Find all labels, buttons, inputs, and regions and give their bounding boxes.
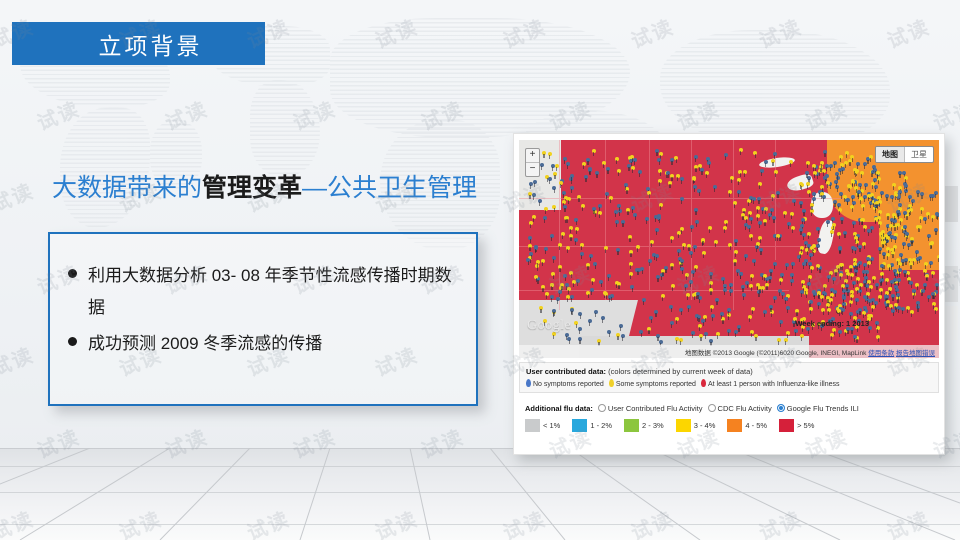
map-pin — [720, 312, 724, 316]
map-pin — [848, 185, 852, 189]
map-pin — [877, 196, 881, 200]
map-pin — [830, 288, 834, 292]
map-pin — [686, 293, 690, 297]
map-pin — [832, 277, 836, 281]
map-pin — [756, 206, 760, 210]
map-pin — [934, 191, 938, 195]
legend-label: No symptoms reported — [533, 381, 604, 388]
map-pin — [551, 164, 555, 168]
map-pin — [891, 309, 895, 313]
map-pin — [923, 283, 927, 287]
radio-icon[interactable] — [708, 404, 716, 412]
map-attribution: 地图数据 ©2013 Google (©2011)6020 Google, IN… — [685, 347, 935, 357]
map-pin — [837, 232, 841, 236]
map-pin — [801, 218, 805, 222]
map-pin — [878, 200, 882, 204]
map-pin — [695, 220, 699, 224]
map-pin — [729, 283, 733, 287]
map-pin — [709, 281, 713, 285]
map-pin — [812, 197, 816, 201]
map-pin — [770, 208, 774, 212]
map-pin — [670, 321, 674, 325]
map-pin — [880, 272, 884, 276]
map-pin — [675, 337, 679, 341]
radio-option-user-contributed[interactable]: User Contributed Flu Activity — [598, 404, 703, 413]
map-pin — [631, 166, 635, 170]
map-pin — [558, 243, 562, 247]
map-pin — [839, 192, 843, 196]
map-pin — [878, 247, 882, 251]
map-pin — [617, 282, 621, 286]
map-pin — [566, 246, 570, 250]
map-pin — [649, 316, 653, 320]
radio-label: User Contributed Flu Activity — [608, 404, 703, 413]
scale-item: 3 - 4% — [676, 419, 716, 432]
map-pin — [570, 295, 574, 299]
map-pin — [734, 330, 738, 334]
map-pin — [562, 200, 566, 204]
map-pin — [842, 296, 846, 300]
map-pin — [807, 282, 811, 286]
map-pin — [875, 321, 879, 325]
map-pin — [566, 162, 570, 166]
map-pin — [638, 170, 642, 174]
map-pin — [872, 276, 876, 280]
map-pin — [630, 285, 634, 289]
map-pin — [874, 185, 878, 189]
map-pin — [744, 223, 748, 227]
map-pin — [830, 293, 834, 297]
scale-item: > 5% — [779, 419, 814, 432]
map-pin — [536, 260, 540, 264]
map-pin — [881, 241, 885, 245]
map-pin — [899, 253, 903, 257]
map-pin — [919, 216, 923, 220]
map-pin — [810, 209, 814, 213]
map-pin — [790, 279, 794, 283]
map-pin — [791, 226, 795, 230]
map-pin — [577, 195, 581, 199]
map-pin — [876, 171, 880, 175]
map-pin — [837, 203, 841, 207]
map-pin — [602, 161, 606, 165]
map-pin — [885, 278, 889, 282]
attribution-link-terms[interactable]: 使用条款 — [868, 350, 894, 357]
map-pin — [655, 149, 659, 153]
map-pin — [748, 211, 752, 215]
map-pin — [750, 274, 754, 278]
map-pin — [694, 208, 698, 212]
slide-canvas: 立项背景 大数据带来的管理变革—公共卫生管理 利用大数据分析 03- 08 年季… — [0, 0, 960, 540]
map-pin — [636, 245, 640, 249]
map-pin — [903, 225, 907, 229]
map-toggle-map[interactable]: 地图 — [876, 147, 904, 162]
map-pin — [691, 331, 695, 335]
map-pin — [742, 293, 746, 297]
radio-option-cdc[interactable]: CDC Flu Activity — [708, 404, 772, 413]
map-pin — [748, 315, 752, 319]
map-pin — [880, 191, 884, 195]
map-pin — [845, 151, 849, 155]
map-pin — [749, 217, 753, 221]
map-pin — [892, 219, 896, 223]
map-pin — [628, 235, 632, 239]
map-pin — [756, 214, 760, 218]
map-pin — [645, 217, 649, 221]
map-pin — [707, 161, 711, 165]
map-pin — [540, 163, 544, 167]
map-pin — [799, 182, 803, 186]
map-pin — [693, 185, 697, 189]
map-pin — [578, 337, 582, 341]
map-pin — [908, 204, 912, 208]
map-pin — [845, 284, 849, 288]
map-pin — [560, 283, 564, 287]
map-pin — [689, 251, 693, 255]
map-type-toggle[interactable]: 地图 卫星 — [875, 146, 934, 163]
map-pin — [817, 291, 821, 295]
map-pin — [875, 283, 879, 287]
map-pin — [902, 171, 906, 175]
map-pin — [807, 190, 811, 194]
legend-label: At least 1 person with Influenza-like il… — [708, 381, 840, 388]
map-pin — [581, 204, 585, 208]
map-pin — [849, 265, 853, 269]
map-pin — [888, 287, 892, 291]
map-pin — [713, 185, 717, 189]
color-swatch — [779, 419, 794, 432]
map-pin — [532, 193, 536, 197]
map-pin — [656, 334, 660, 338]
map-pin — [633, 158, 637, 162]
map-pin — [700, 168, 704, 172]
map-pin — [846, 272, 850, 276]
map-pin — [769, 269, 773, 273]
map-pin — [723, 288, 727, 292]
map-pin — [610, 294, 614, 298]
map-pin — [904, 176, 908, 180]
map-pin — [670, 263, 674, 267]
map-pin — [859, 197, 863, 201]
page-title-part1: 大数据带来的 — [52, 174, 202, 202]
map-pin — [616, 248, 620, 252]
map-pin — [901, 259, 905, 263]
map-pin — [574, 238, 578, 242]
map-pin — [850, 273, 854, 277]
map-pin — [784, 297, 788, 301]
map-pin — [545, 292, 549, 296]
map-pin — [840, 217, 844, 221]
map-pin — [809, 307, 813, 311]
map-pin — [862, 242, 866, 246]
map-pin — [805, 171, 809, 175]
map-pin — [705, 171, 709, 175]
map-pin — [617, 204, 621, 208]
map-pin — [838, 247, 842, 251]
map-pin — [574, 321, 578, 325]
map-pin — [552, 309, 556, 313]
week-ending-label: Week ending: 1 2013 — [795, 319, 869, 328]
map-pin — [548, 152, 552, 156]
map-pin — [565, 216, 569, 220]
color-swatch — [525, 419, 540, 432]
map-pin — [733, 259, 737, 263]
map-pin — [552, 205, 556, 209]
map-pin — [597, 339, 601, 343]
map-pin — [879, 288, 883, 292]
map-pin — [604, 246, 608, 250]
map-pin — [728, 190, 732, 194]
map-pin — [817, 302, 821, 306]
scale-item: 1 - 2% — [572, 419, 612, 432]
list-item: 成功预测 2009 冬季流感的传播 — [68, 328, 468, 360]
map-pin — [607, 274, 611, 278]
map-pin — [893, 269, 897, 273]
map-pin — [715, 298, 719, 302]
map-pin — [854, 236, 858, 240]
map-pin — [639, 330, 643, 334]
map-pin — [704, 332, 708, 336]
slide-title-banner: 立项背景 — [12, 22, 265, 65]
map-pin — [567, 337, 571, 341]
map-pin — [918, 256, 922, 260]
map-pin — [920, 192, 924, 196]
map-pin — [878, 295, 882, 299]
map-pin — [617, 169, 621, 173]
map-pin — [821, 308, 825, 312]
map-pin — [709, 339, 713, 343]
map-pin — [888, 231, 892, 235]
map-pin — [865, 270, 869, 274]
map-pin — [801, 280, 805, 284]
map-pin — [859, 283, 863, 287]
map-pin — [773, 152, 777, 156]
map-pin — [816, 244, 820, 248]
map-pin — [802, 233, 806, 237]
map-pin — [723, 226, 727, 230]
map-pin — [550, 283, 554, 287]
map-pin — [927, 295, 931, 299]
map-pin — [806, 161, 810, 165]
map-pin — [657, 158, 661, 162]
google-flu-map[interactable]: + − 地图 卫星 Google Week ending: 1 2013 地图数… — [519, 140, 939, 358]
map-pin — [592, 149, 596, 153]
map-pin — [846, 198, 850, 202]
map-pin — [575, 227, 579, 231]
map-pin — [863, 263, 867, 267]
map-pin — [764, 160, 768, 164]
map-pin — [820, 185, 824, 189]
map-pin — [659, 203, 663, 207]
map-pin — [544, 207, 548, 211]
map-pin — [694, 155, 698, 159]
map-pin — [791, 262, 795, 266]
map-pin — [935, 283, 939, 287]
radio-icon-selected[interactable] — [777, 404, 785, 412]
map-toggle-satellite[interactable]: 卫星 — [904, 147, 933, 162]
map-pin — [709, 288, 713, 292]
zoom-in-icon[interactable]: + — [526, 149, 539, 162]
map-pin — [692, 177, 696, 181]
map-pin — [647, 191, 651, 195]
map-pin — [680, 177, 684, 181]
map-pin — [827, 275, 831, 279]
map-pin — [541, 259, 545, 263]
map-pin — [674, 156, 678, 160]
pin-icon — [609, 379, 614, 387]
map-pin — [785, 263, 789, 267]
map-pin — [866, 292, 870, 296]
map-pin — [567, 287, 571, 291]
map-pin — [593, 262, 597, 266]
radio-label: CDC Flu Activity — [718, 404, 772, 413]
map-pin — [911, 199, 915, 203]
map-pin — [800, 246, 804, 250]
map-pin — [659, 340, 663, 344]
map-pin — [538, 199, 542, 203]
map-pin — [677, 231, 681, 235]
map-pin — [757, 197, 761, 201]
map-pin — [838, 330, 842, 334]
scale-label: 4 - 5% — [745, 421, 767, 430]
map-pin — [601, 316, 605, 320]
map-pin — [737, 325, 741, 329]
map-pin — [764, 207, 768, 211]
map-pin — [698, 164, 702, 168]
map-zoom-control[interactable]: + − — [525, 148, 540, 177]
attribution-link-report[interactable]: 报告地图错误 — [896, 350, 935, 357]
map-pin — [839, 273, 843, 277]
map-pin — [899, 218, 903, 222]
map-pin — [569, 271, 573, 275]
map-pin — [607, 330, 611, 334]
watermark-text: 试读 — [0, 339, 38, 382]
map-pin — [915, 283, 919, 287]
map-pin — [544, 247, 548, 251]
map-pin — [532, 215, 536, 219]
map-pin — [771, 194, 775, 198]
page-title: 大数据带来的管理变革—公共卫生管理 — [52, 168, 477, 204]
map-pin — [556, 297, 560, 301]
map-pin — [858, 245, 862, 249]
map-pin — [629, 250, 633, 254]
map-pin — [910, 237, 914, 241]
map-pin — [737, 190, 741, 194]
map-pin — [680, 227, 684, 231]
map-pin — [920, 207, 924, 211]
map-pin — [850, 205, 854, 209]
map-pin — [907, 243, 911, 247]
map-pin — [832, 223, 836, 227]
map-pin — [807, 176, 811, 180]
map-pin — [809, 300, 813, 304]
map-pin — [679, 338, 683, 342]
map-pin — [809, 253, 813, 257]
map-pin — [741, 285, 745, 289]
map-pin — [786, 306, 790, 310]
map-pin — [772, 216, 776, 220]
map-pin — [640, 267, 644, 271]
map-pin — [896, 210, 900, 214]
map-pin — [633, 213, 637, 217]
map-pin — [929, 194, 933, 198]
legend-label: Some symptoms reported — [616, 381, 696, 388]
map-pin — [843, 231, 847, 235]
map-pin — [856, 277, 860, 281]
map-pin — [743, 170, 747, 174]
map-pin — [694, 265, 698, 269]
map-pin — [863, 162, 867, 166]
map-pin — [570, 174, 574, 178]
bullet-dot-icon — [68, 337, 77, 346]
map-pin — [850, 294, 854, 298]
zoom-out-icon[interactable]: − — [526, 162, 539, 176]
map-pin — [690, 225, 694, 229]
map-pin — [774, 170, 778, 174]
map-pin — [539, 306, 543, 310]
map-pin — [790, 212, 794, 216]
map-pin — [901, 307, 905, 311]
map-pin — [555, 164, 559, 168]
scale-item: 4 - 5% — [727, 419, 767, 432]
map-pin — [795, 309, 799, 313]
map-pin — [699, 334, 703, 338]
map-pin — [929, 242, 933, 246]
bullet-list: 利用大数据分析 03- 08 年季节性流感传播时期数据 成功预测 2009 冬季… — [68, 260, 468, 364]
map-pin — [802, 209, 806, 213]
map-pin — [750, 330, 754, 334]
map-pin — [851, 180, 855, 184]
map-pin — [830, 230, 834, 234]
map-pin — [528, 192, 532, 196]
map-pin — [670, 174, 674, 178]
radio-icon[interactable] — [598, 404, 606, 412]
map-pin — [703, 315, 707, 319]
map-pin — [789, 160, 793, 164]
map-pin — [642, 298, 646, 302]
map-pin — [629, 262, 633, 266]
map-pin — [658, 169, 662, 173]
map-pin — [878, 221, 882, 225]
map-pin — [567, 197, 571, 201]
map-pin — [892, 183, 896, 187]
map-pin — [773, 262, 777, 266]
map-pin — [856, 162, 860, 166]
map-pin — [792, 199, 796, 203]
map-pin — [594, 310, 598, 314]
map-pin — [697, 189, 701, 193]
map-pin — [860, 171, 864, 175]
map-pin — [682, 243, 686, 247]
map-pin — [932, 302, 936, 306]
user-contributed-note: (colors determined by current week of da… — [608, 367, 753, 376]
map-pin — [586, 291, 590, 295]
pin-icon — [701, 379, 706, 387]
map-pin — [895, 288, 899, 292]
legend-item: At least 1 person with Influenza-like il… — [701, 379, 840, 388]
map-pin — [896, 258, 900, 262]
map-pin — [794, 329, 798, 333]
map-pin — [526, 258, 530, 262]
map-pin — [648, 259, 652, 263]
map-pin — [552, 256, 556, 260]
map-pin — [684, 284, 688, 288]
map-pin — [714, 240, 718, 244]
map-pin — [823, 284, 827, 288]
map-pin — [543, 216, 547, 220]
radio-option-google-trends[interactable]: Google Flu Trends ILI — [777, 404, 859, 413]
map-pin — [580, 243, 584, 247]
